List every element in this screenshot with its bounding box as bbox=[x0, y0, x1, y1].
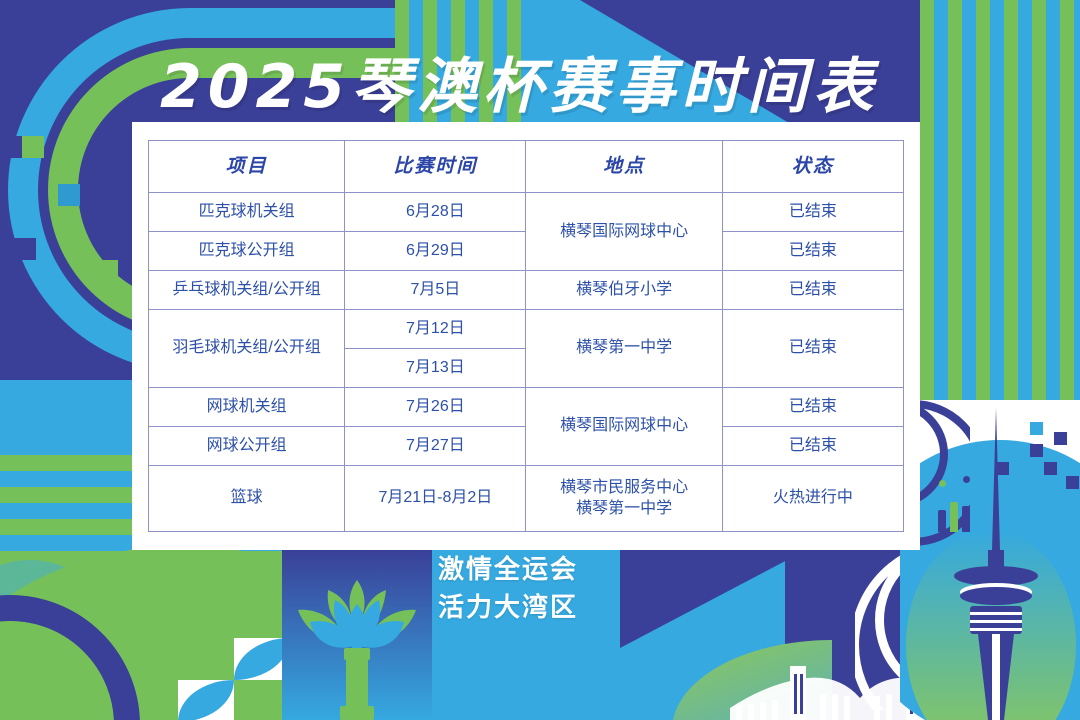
cell-place: 横琴国际网球中心 bbox=[526, 193, 722, 271]
schedule-card: 项目 比赛时间 地点 状态 匹克球机关组 6月28日 横琴国际网球中心 已结束 … bbox=[132, 122, 920, 550]
table-row: 乒乓球机关组/公开组 7月5日 横琴伯牙小学 已结束 bbox=[149, 270, 904, 309]
cell-status: 已结束 bbox=[722, 270, 903, 309]
cell-time: 6月28日 bbox=[345, 193, 526, 232]
cell-place-line-2: 横琴第一中学 bbox=[528, 498, 719, 520]
cell-place: 横琴市民服务中心 横琴第一中学 bbox=[526, 465, 722, 531]
cell-place: 横琴第一中学 bbox=[526, 309, 722, 387]
cell-status: 已结束 bbox=[722, 426, 903, 465]
navy-triangle-bottom-center bbox=[620, 548, 810, 648]
cell-time: 7月21日-8月2日 bbox=[345, 465, 526, 531]
cell-event: 网球公开组 bbox=[149, 426, 345, 465]
cell-place: 横琴伯牙小学 bbox=[526, 270, 722, 309]
cell-event: 匹克球机关组 bbox=[149, 193, 345, 232]
table-row: 篮球 7月21日-8月2日 横琴市民服务中心 横琴第一中学 火热进行中 bbox=[149, 465, 904, 531]
table-body: 匹克球机关组 6月28日 横琴国际网球中心 已结束 匹克球公开组 6月29日 已… bbox=[149, 193, 904, 532]
column-header-time: 比赛时间 bbox=[345, 141, 526, 193]
macau-tower-icon bbox=[900, 400, 1080, 720]
macau-tower-panel bbox=[900, 400, 1080, 720]
cell-place: 横琴国际网球中心 bbox=[526, 387, 722, 465]
cell-status: 已结束 bbox=[722, 193, 903, 232]
cell-time: 7月12日 bbox=[345, 309, 526, 348]
table-head: 项目 比赛时间 地点 状态 bbox=[149, 141, 904, 193]
table-row: 羽毛球机关组/公开组 7月12日 横琴第一中学 已结束 bbox=[149, 309, 904, 348]
slogan-text: 激情全运会 活力大湾区 bbox=[438, 552, 578, 627]
table-header-row: 项目 比赛时间 地点 状态 bbox=[149, 141, 904, 193]
cell-time: 6月29日 bbox=[345, 231, 526, 270]
cell-event: 匹克球公开组 bbox=[149, 231, 345, 270]
slogan-line-1: 激情全运会 bbox=[438, 552, 578, 590]
table-row: 匹克球机关组 6月28日 横琴国际网球中心 已结束 bbox=[149, 193, 904, 232]
cell-event: 篮球 bbox=[149, 465, 345, 531]
table-row: 网球机关组 7月26日 横琴国际网球中心 已结束 bbox=[149, 387, 904, 426]
cell-status: 已结束 bbox=[722, 231, 903, 270]
column-header-place: 地点 bbox=[526, 141, 722, 193]
cell-event: 羽毛球机关组/公开组 bbox=[149, 309, 345, 387]
cell-time: 7月27日 bbox=[345, 426, 526, 465]
cell-status: 已结束 bbox=[722, 387, 903, 426]
column-header-event: 项目 bbox=[149, 141, 345, 193]
cell-event: 乒乓球机关组/公开组 bbox=[149, 270, 345, 309]
lotus-flower-icon bbox=[282, 548, 432, 720]
cell-place-line-1: 横琴市民服务中心 bbox=[528, 477, 719, 499]
column-header-status: 状态 bbox=[722, 141, 903, 193]
cell-time-secondary: 7月13日 bbox=[345, 348, 526, 387]
checkerboard-leaf-decoration bbox=[178, 638, 290, 720]
cell-status: 火热进行中 bbox=[722, 465, 903, 531]
cell-time: 7月5日 bbox=[345, 270, 526, 309]
cell-event: 网球机关组 bbox=[149, 387, 345, 426]
poster-canvas: 2025琴澳杯赛事时间表 激情全运会 活力大湾区 项目 比赛时间 地点 状态 bbox=[0, 0, 1080, 720]
slogan-line-2: 活力大湾区 bbox=[438, 590, 578, 628]
cell-time: 7月26日 bbox=[345, 387, 526, 426]
schedule-table: 项目 比赛时间 地点 状态 匹克球机关组 6月28日 横琴国际网球中心 已结束 … bbox=[148, 140, 904, 532]
cell-status: 已结束 bbox=[722, 309, 903, 387]
